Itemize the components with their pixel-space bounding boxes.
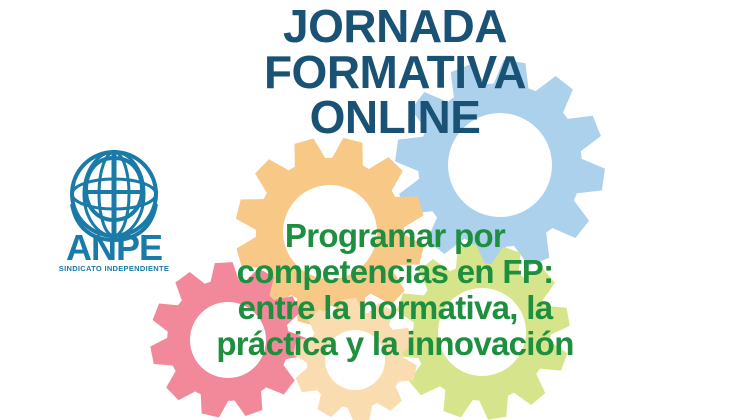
subtitle-line-2: competencias en FP: (160, 254, 630, 290)
anpe-acronym: ANPE (66, 227, 162, 268)
headline-line-3: ONLINE (175, 95, 615, 141)
subtitle-line-1: Programar por (160, 218, 630, 254)
page-title: JORNADA FORMATIVA ONLINE (175, 4, 615, 141)
subtitle-line-3: entre la normativa, la (160, 290, 630, 326)
anpe-tagline: SINDICATO INDEPENDIENTE (59, 264, 169, 273)
page-subtitle: Programar por competencias en FP: entre … (160, 218, 630, 362)
subtitle-line-4: práctica y la innovación (160, 326, 630, 362)
headline-line-2: FORMATIVA (175, 50, 615, 96)
poster-canvas: ANPE SINDICATO INDEPENDIENTE JORNADA FOR… (0, 0, 750, 420)
headline-line-1: JORNADA (175, 4, 615, 50)
